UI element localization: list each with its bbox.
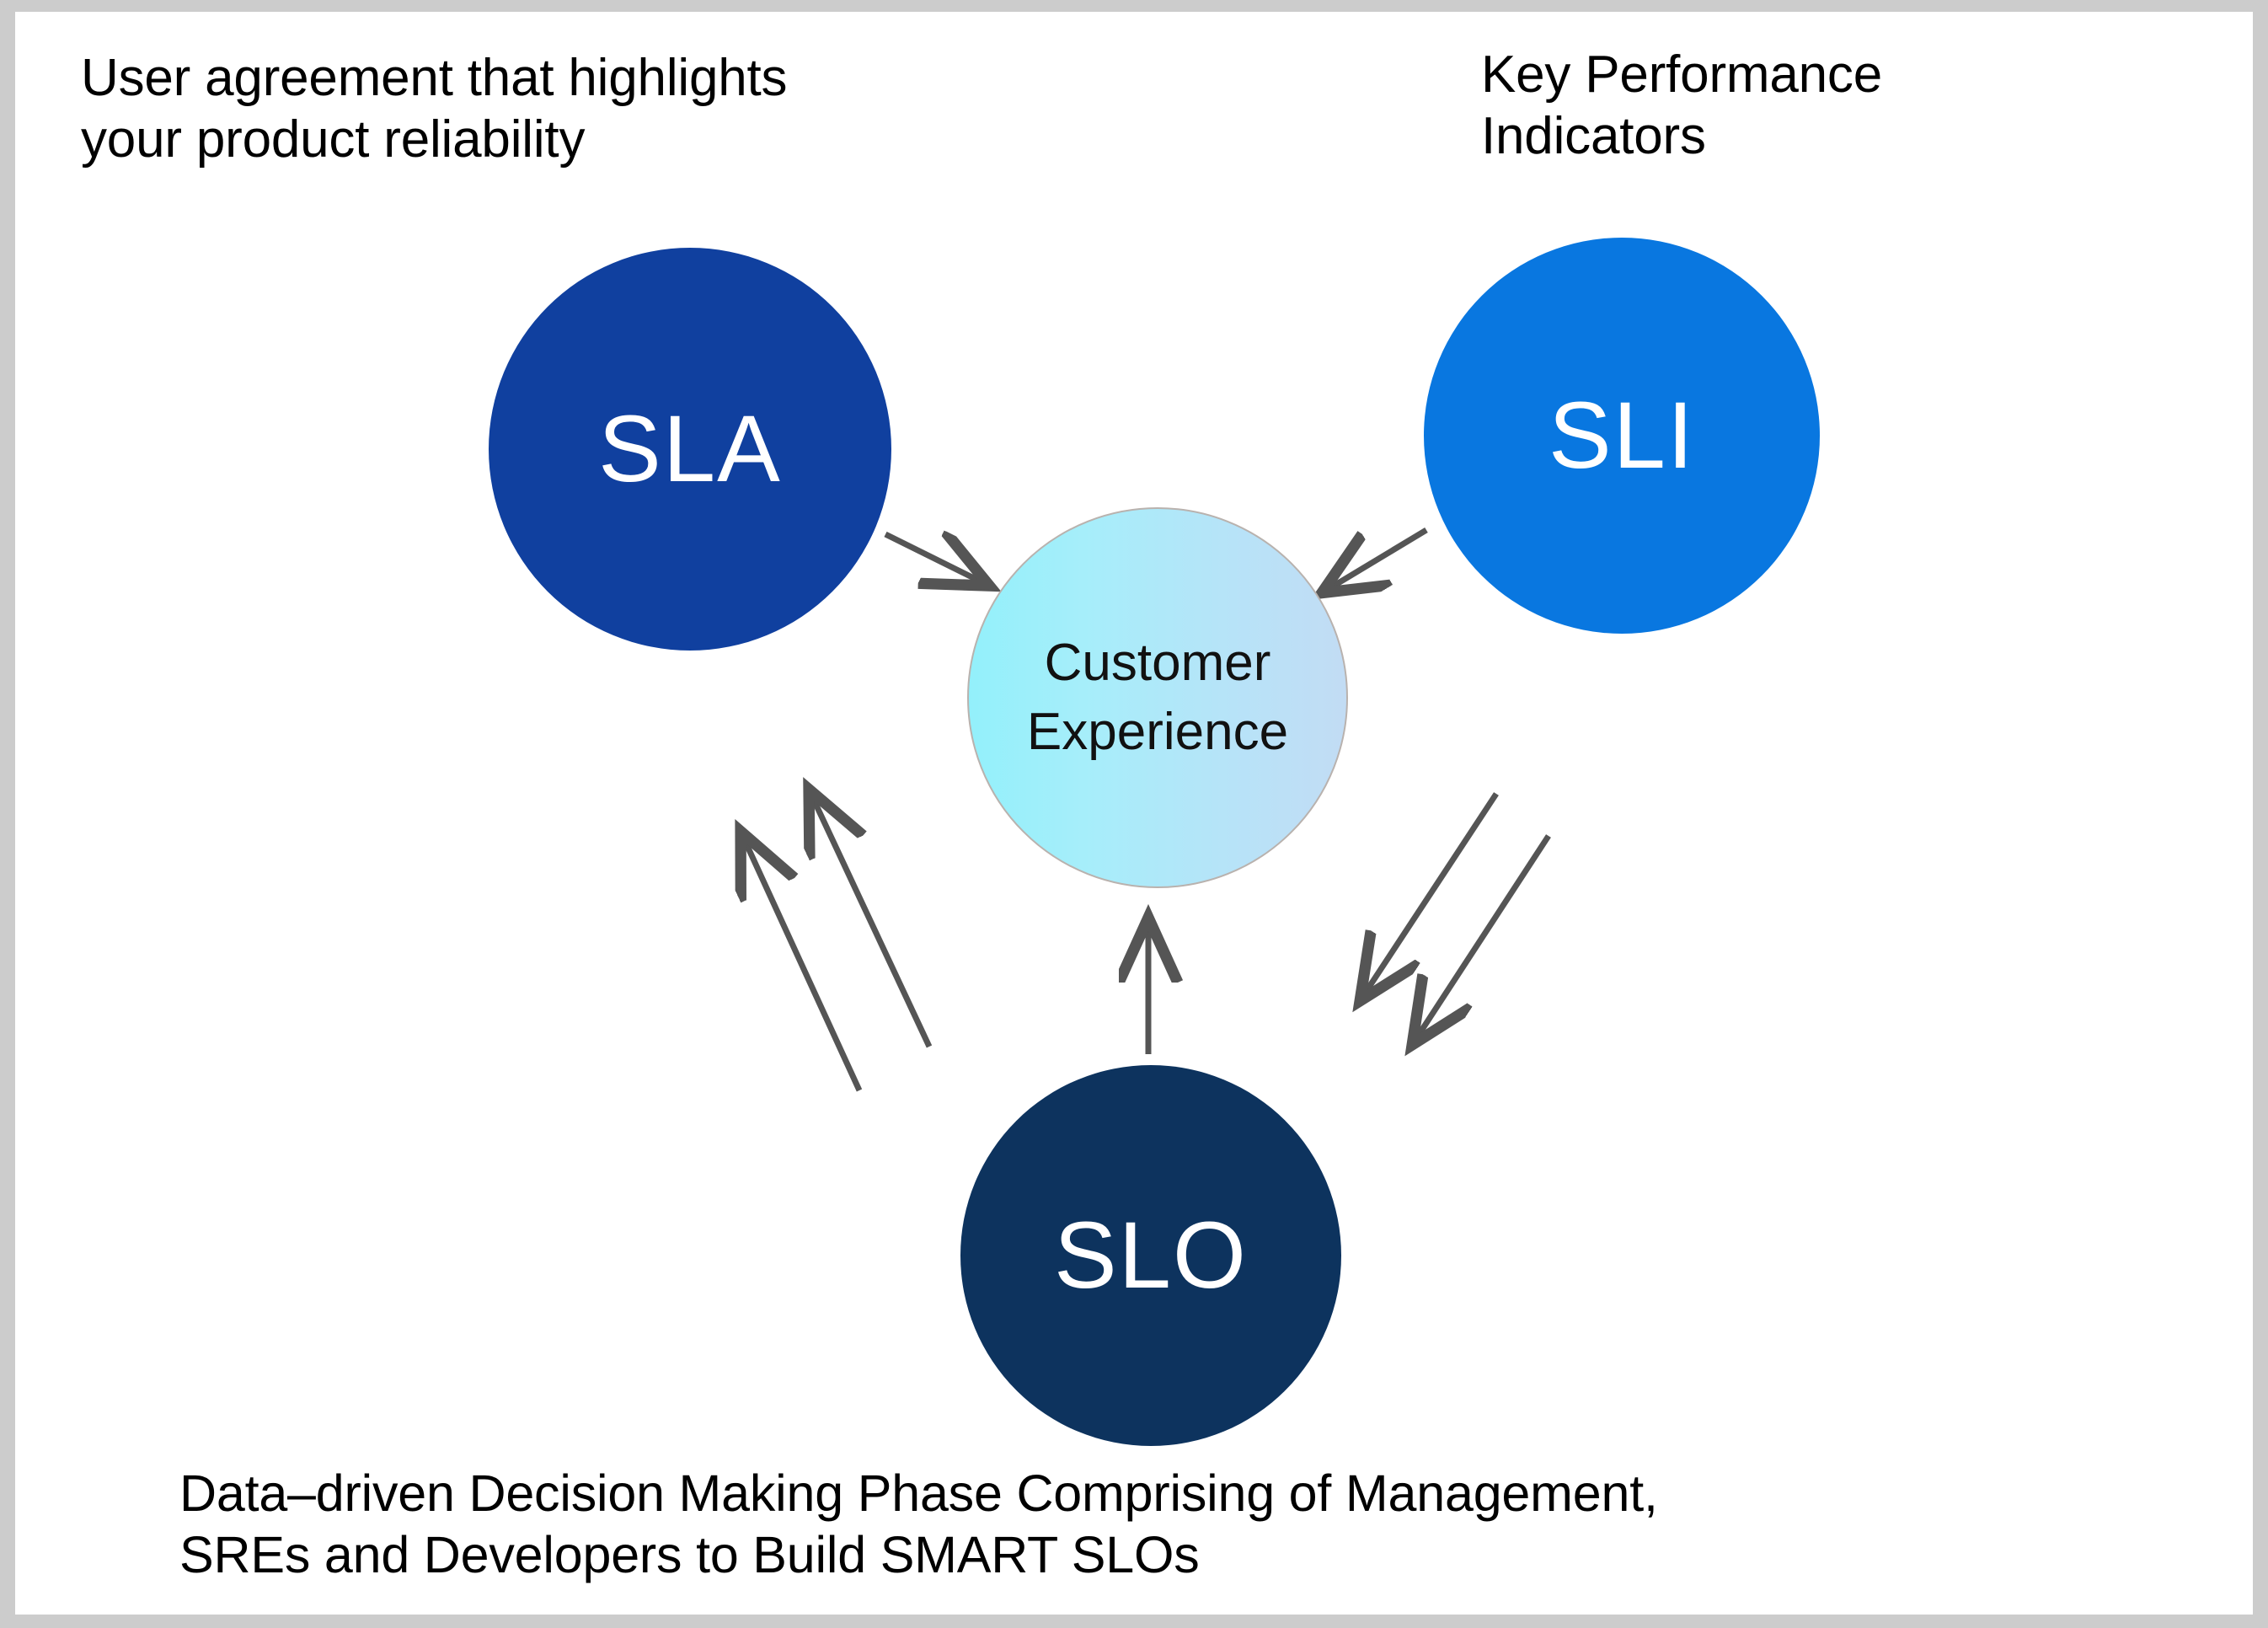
arrow-sla-to-center (885, 534, 984, 583)
arrow-center-to-slo-outer (1415, 836, 1549, 1040)
arrow-slo-to-sla-inner (811, 795, 929, 1047)
node-customer-experience[interactable]: Customer Experience (967, 507, 1348, 888)
node-slo-label: SLO (1054, 1206, 1248, 1305)
node-sli-label: SLI (1549, 386, 1695, 485)
diagram-canvas: User agreement that highlights your prod… (15, 12, 2253, 1615)
node-sla-label: SLA (598, 399, 782, 499)
node-sli[interactable]: SLI (1424, 238, 1820, 634)
sla-description-text: User agreement that highlights your prod… (81, 47, 1008, 170)
node-sla[interactable]: SLA (489, 248, 891, 651)
node-customer-experience-label: Customer Experience (1027, 629, 1288, 767)
node-slo[interactable]: SLO (960, 1065, 1341, 1446)
sli-description-text: Key Performance Indicators (1481, 44, 2105, 167)
diagram-frame: User agreement that highlights your prod… (0, 0, 2268, 1628)
slo-description-text: Data–driven Decision Making Phase Compri… (179, 1463, 2117, 1586)
arrow-slo-to-sla-outer (743, 837, 859, 1090)
arrow-center-to-slo-inner (1363, 794, 1496, 996)
arrow-sli-to-center (1327, 530, 1426, 590)
